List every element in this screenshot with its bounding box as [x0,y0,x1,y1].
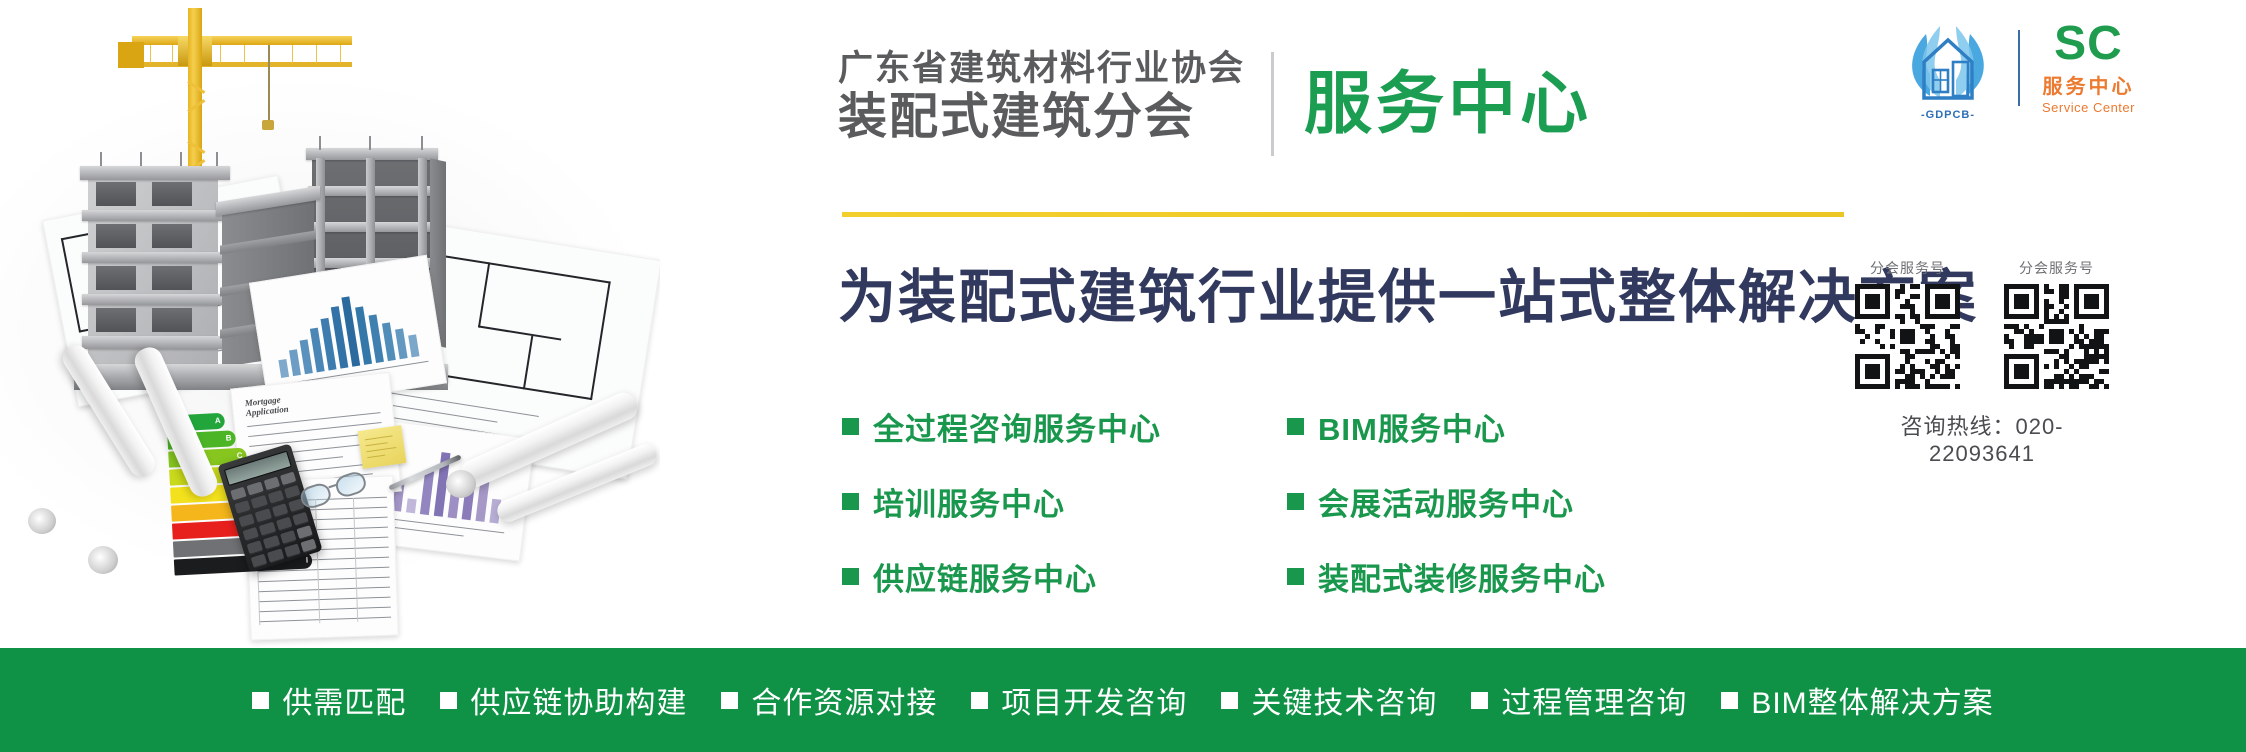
gdpcb-wordmark: -GDPCB- [1900,109,1996,121]
square-bullet-icon [842,493,859,510]
gdpcb-sc-logo: -GDPCB- SC 服务中心 Service Center [1900,18,2135,118]
bottom-tag-label: 关键技术咨询 [1251,678,1437,722]
bottom-tag-label: 供需匹配 [282,678,406,722]
square-bullet-icon [842,418,859,435]
qr-item[interactable]: 分会服务号 [1855,258,1960,389]
square-bullet-icon [440,692,457,709]
service-item[interactable]: 装配式装修服务中心 [1287,554,1606,599]
qr-label: 分会服务号 [2004,258,2109,278]
bottom-tag[interactable]: 供需匹配 [252,678,406,722]
bottom-tag[interactable]: BIM整体解决方案 [1721,678,1993,722]
banner-content: 广东省建筑材料行业协会 装配式建筑分会 服务中心 为装配式建筑行业提供一站式整体… [660,0,2246,648]
qr-item[interactable]: 分会服务号 [2004,258,2109,389]
bottom-tag[interactable]: 关键技术咨询 [1221,678,1437,722]
qr-contact-zone: 分会服务号 分会服务号 咨询热线：020-22093641 [1855,258,2109,467]
square-bullet-icon [1221,692,1238,709]
square-bullet-icon [842,568,859,585]
sc-english-label: Service Center [2042,100,2135,115]
service-item-label: 会展活动服务中心 [1318,479,1574,524]
bottom-tag[interactable]: 项目开发咨询 [971,678,1187,722]
bottom-tag[interactable]: 供应链协助构建 [440,678,687,722]
square-bullet-icon [971,692,988,709]
sticky-note-icon [358,425,407,469]
sc-logo-block: SC 服务中心 Service Center [2042,21,2135,115]
bottom-tag-label: 供应链协助构建 [470,678,687,722]
square-bullet-icon [1287,418,1304,435]
sc-letters: SC [2042,21,2135,67]
service-center-heading: 服务中心 [1304,70,1592,138]
service-item-label: 装配式装修服务中心 [1318,554,1606,599]
service-item[interactable]: 培训服务中心 [842,479,1161,524]
service-item-label: 供应链服务中心 [873,554,1097,599]
service-item[interactable]: 全过程咨询服务中心 [842,404,1161,449]
bottom-tag[interactable]: 合作资源对接 [721,678,937,722]
bottom-tag-bar: 供需匹配 供应链协助构建 合作资源对接 项目开发咨询 关键技术咨询 过程管理咨询… [0,648,2246,752]
logo-divider [2018,30,2020,106]
square-bullet-icon [1287,568,1304,585]
qr-row: 分会服务号 分会服务号 [1855,258,2109,389]
square-bullet-icon [252,692,269,709]
association-name-line2: 装配式建筑分会 [838,89,1245,146]
service-item-label: 全过程咨询服务中心 [873,404,1161,449]
service-item[interactable]: 会展活动服务中心 [1287,479,1606,524]
square-bullet-icon [1287,493,1304,510]
qr-code-icon[interactable] [1855,284,1960,389]
gold-divider-rule [842,212,1844,217]
service-item-label: 培训服务中心 [873,479,1065,524]
service-list-left: 全过程咨询服务中心 培训服务中心 供应链服务中心 [842,404,1161,599]
sc-chinese-label: 服务中心 [2042,70,2135,99]
bottom-tag[interactable]: 过程管理咨询 [1471,678,1687,722]
qr-label: 分会服务号 [1855,258,1960,278]
association-name-line1: 广东省建筑材料行业协会 [838,48,1245,89]
construction-scene-image: Mortgage Application APPLICATION [0,0,660,648]
square-bullet-icon [1471,692,1488,709]
hotline-text: 咨询热线：020-22093641 [1855,409,2109,467]
square-bullet-icon [721,692,738,709]
service-item[interactable]: 供应链服务中心 [842,554,1161,599]
bottom-tag-label: BIM整体解决方案 [1751,678,1993,722]
qr-code-icon[interactable] [2004,284,2109,389]
association-name-block: 广东省建筑材料行业协会 装配式建筑分会 [838,48,1271,146]
tagline: 为装配式建筑行业提供一站式整体解决方案 [838,250,1978,334]
bottom-tag-label: 合作资源对接 [751,678,937,722]
gdpcb-house-flame-logo-icon: -GDPCB- [1900,18,1996,118]
service-item-label: BIM服务中心 [1318,404,1506,449]
bottom-tag-label: 项目开发咨询 [1001,678,1187,722]
bottom-tag-label: 过程管理咨询 [1501,678,1687,722]
title-row: 广东省建筑材料行业协会 装配式建筑分会 服务中心 [838,48,1592,156]
service-list-right: BIM服务中心 会展活动服务中心 装配式装修服务中心 [1287,404,1606,599]
square-bullet-icon [1721,692,1738,709]
title-vertical-divider [1271,52,1274,156]
service-item[interactable]: BIM服务中心 [1287,404,1606,449]
service-center-lists: 全过程咨询服务中心 培训服务中心 供应链服务中心 BIM服务中心 [842,404,1606,599]
service-center-banner: Mortgage Application APPLICATION [0,0,2246,752]
